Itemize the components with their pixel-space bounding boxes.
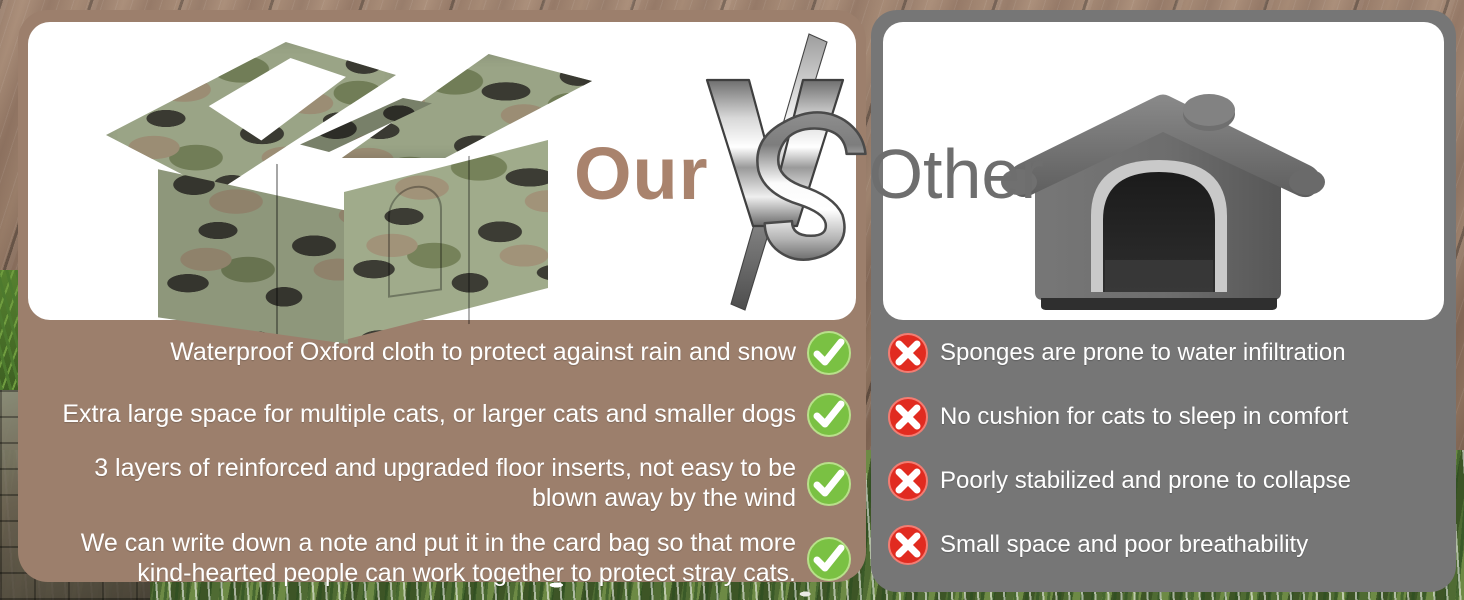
feature-text: No cushion for cats to sleep in comfort <box>940 403 1348 431</box>
wall-seam-right <box>468 156 470 324</box>
check-circle-icon <box>806 330 852 376</box>
list-item: Extra large space for multiple cats, or … <box>32 392 852 438</box>
list-item: Poorly stabilized and prone to collapse <box>887 460 1447 502</box>
check-circle-icon <box>806 392 852 438</box>
cross-circle-icon <box>887 396 929 438</box>
feature-text: Small space and poor breathability <box>940 531 1308 559</box>
camo-cat-house-image <box>88 36 608 356</box>
vs-logo-icon <box>705 54 891 294</box>
house-front-wall <box>158 154 348 344</box>
feature-text: 3 layers of reinforced and upgraded floo… <box>51 454 796 513</box>
other-feature-list: Sponges are prone to water infiltration … <box>887 332 1447 566</box>
feature-text: Sponges are prone to water infiltration <box>940 339 1346 367</box>
feature-text: Extra large space for multiple cats, or … <box>62 400 796 430</box>
other-label: Other <box>869 139 1044 209</box>
check-circle-icon <box>806 461 852 507</box>
list-item: Sponges are prone to water infiltration <box>887 332 1447 374</box>
house-doorway <box>388 182 442 298</box>
list-item: No cushion for cats to sleep in comfort <box>887 396 1447 438</box>
list-item: Waterproof Oxford cloth to protect again… <box>32 330 852 376</box>
feature-text: We can write down a note and put it in t… <box>51 529 796 588</box>
other-product-panel: Sponges are prone to water infiltration … <box>871 10 1456 592</box>
feature-text: Poorly stabilized and prone to collapse <box>940 467 1351 495</box>
versus-headline: Our <box>574 100 1154 248</box>
check-circle-icon <box>806 536 852 582</box>
list-item: 3 layers of reinforced and upgraded floo… <box>32 454 852 513</box>
cross-circle-icon <box>887 332 929 374</box>
house-side-wall <box>344 140 548 340</box>
cross-circle-icon <box>887 524 929 566</box>
cross-circle-icon <box>887 460 929 502</box>
our-label: Our <box>574 137 709 211</box>
our-feature-list: Waterproof Oxford cloth to protect again… <box>32 330 852 588</box>
feature-text: Waterproof Oxford cloth to protect again… <box>170 338 796 368</box>
list-item: We can write down a note and put it in t… <box>32 529 852 588</box>
wall-seam-left <box>276 164 278 334</box>
list-item: Small space and poor breathability <box>887 524 1447 566</box>
